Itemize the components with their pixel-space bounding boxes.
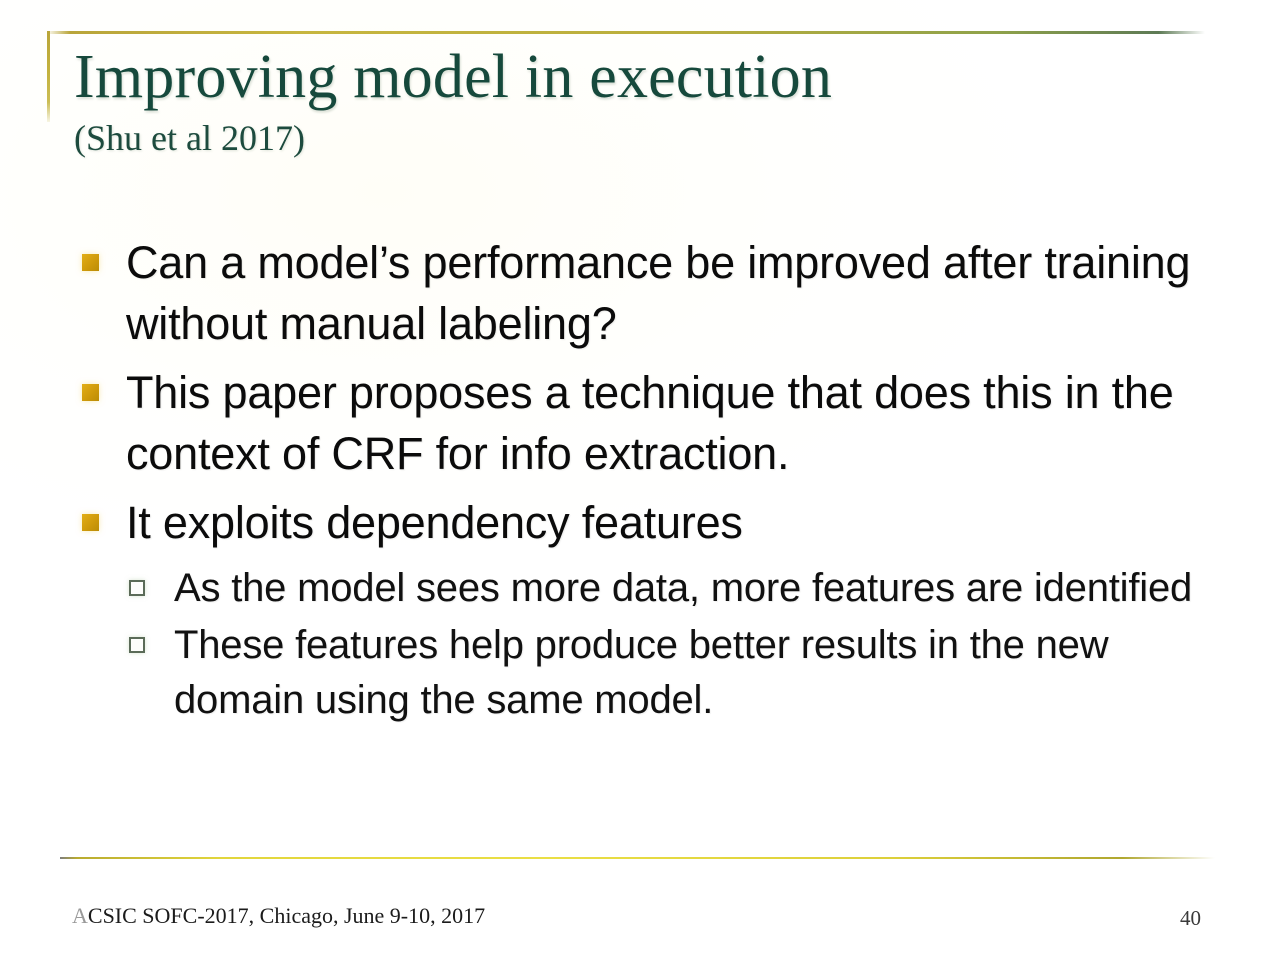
slide-page-number: 40 (1180, 905, 1230, 931)
list-item: It exploits dependency features (78, 492, 1208, 553)
footer-text: CSIC SOFC-2017, Chicago, June 9-10, 2017 (88, 903, 485, 928)
hollow-square-bullet-icon (129, 637, 145, 653)
footer-conference-label: ACSIC SOFC-2017, Chicago, June 9-10, 201… (72, 902, 485, 930)
list-item-text: Can a model’s performance be improved af… (126, 237, 1190, 349)
filled-square-bullet-icon (82, 254, 99, 271)
footer-lead-char: A (72, 903, 88, 928)
sub-list: As the model sees more data, more featur… (78, 561, 1208, 728)
sub-list-item-text: These features help produce better resul… (174, 623, 1108, 722)
footer-divider (60, 857, 1215, 859)
list-item: This paper proposes a technique that doe… (78, 362, 1208, 484)
filled-square-bullet-icon (82, 384, 99, 401)
title-block: Improving model in execution (Shu et al … (74, 40, 1204, 160)
slide-body: Can a model’s performance be improved af… (78, 232, 1208, 730)
page-title: Improving model in execution (74, 40, 1204, 114)
page-subtitle-citation: (Shu et al 2017) (74, 116, 1204, 160)
title-top-rule (47, 31, 1205, 34)
presentation-slide: Improving model in execution (Shu et al … (0, 0, 1280, 960)
sub-list-item: These features help produce better resul… (78, 618, 1208, 728)
hollow-square-bullet-icon (129, 580, 145, 596)
sub-list-item: As the model sees more data, more featur… (78, 561, 1208, 616)
list-item: Can a model’s performance be improved af… (78, 232, 1208, 354)
list-item-text: This paper proposes a technique that doe… (126, 367, 1174, 479)
sub-list-item-text: As the model sees more data, more featur… (174, 566, 1192, 610)
list-item-text: It exploits dependency features (126, 497, 743, 548)
title-left-accent-bar (47, 31, 50, 122)
filled-square-bullet-icon (82, 514, 99, 531)
